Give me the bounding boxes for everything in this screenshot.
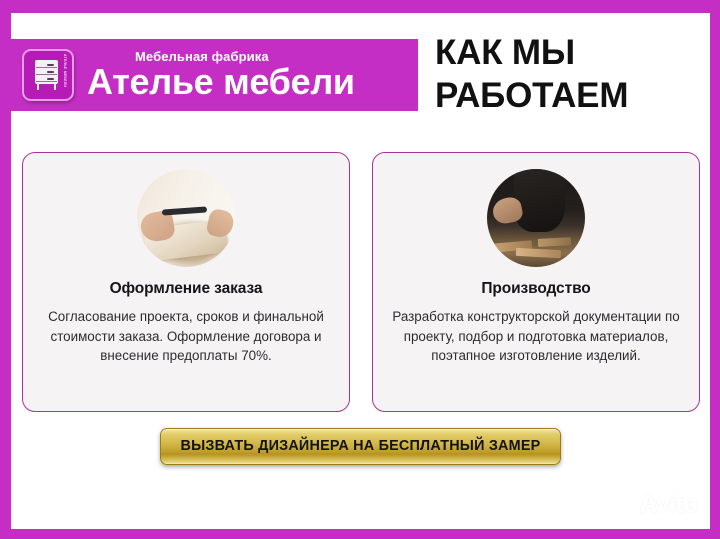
carpenter-workshop-photo: [487, 169, 585, 267]
logo-vertical-text: АТЕЛЬЕ МЕБЕЛИ: [60, 54, 69, 98]
page-title: КАК МЫ РАБОТАЕМ: [435, 31, 705, 117]
step-card-body: Разработка конструкторской документации …: [389, 307, 683, 366]
steps-container: Оформление заказа Согласование проекта, …: [22, 152, 700, 412]
step-card-body: Согласование проекта, сроков и финальной…: [39, 307, 333, 366]
step-card-order: Оформление заказа Согласование проекта, …: [22, 152, 350, 412]
step-card-production: Производство Разработка конструкторской …: [372, 152, 700, 412]
cta-container: ВЫЗВАТЬ ДИЗАЙНЕРА НА БЕСПЛАТНЫЙ ЗАМЕР: [11, 428, 710, 465]
step-card-title: Производство: [373, 280, 699, 298]
step-card-title: Оформление заказа: [23, 280, 349, 298]
avito-watermark: Avito: [614, 492, 698, 517]
brand-name: Ателье мебели: [87, 64, 355, 100]
poster-content: АТЕЛЬЕ МЕБЕЛИ Мебельная фабрика Ателье м…: [11, 13, 710, 529]
call-designer-button[interactable]: ВЫЗВАТЬ ДИЗАЙНЕРА НА БЕСПЛАТНЫЙ ЗАМЕР: [160, 428, 562, 465]
avito-wordmark: Avito: [639, 492, 698, 517]
header: АТЕЛЬЕ МЕБЕЛИ Мебельная фабрика Ателье м…: [11, 13, 710, 139]
poster-root: АТЕЛЬЕ МЕБЕЛИ Мебельная фабрика Ателье м…: [0, 0, 720, 539]
logo-tile: АТЕЛЬЕ МЕБЕЛИ: [22, 49, 74, 101]
signing-documents-photo: [137, 169, 235, 267]
dresser-icon: [35, 60, 58, 90]
brand-band: АТЕЛЬЕ МЕБЕЛИ Мебельная фабрика Ателье м…: [11, 39, 418, 111]
brand-text: Мебельная фабрика Ателье мебели: [87, 50, 355, 100]
avito-dots-icon: [614, 494, 636, 516]
